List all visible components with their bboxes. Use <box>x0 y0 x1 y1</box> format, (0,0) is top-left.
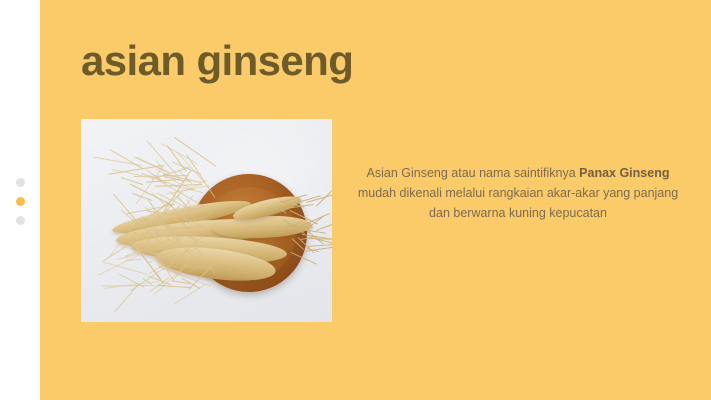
root-hair <box>153 247 182 249</box>
photo-canvas <box>81 119 332 322</box>
root-whisker <box>307 244 332 247</box>
body-text-tail: mudah dikenali melalui rangkaian akar-ak… <box>358 186 678 220</box>
root-whisker <box>315 224 332 231</box>
root-tendrils <box>86 151 222 293</box>
body-text-emphasis: Panax Ginseng <box>579 166 669 180</box>
pagination-dots[interactable] <box>0 178 40 225</box>
body-text-lead: Asian Ginseng atau nama saintifiknya <box>367 166 580 180</box>
body-paragraph: Asian Ginseng atau nama saintifiknya Pan… <box>352 163 684 223</box>
pagination-rail <box>0 0 40 400</box>
root-hair <box>199 219 212 220</box>
pagination-dot-1[interactable] <box>16 178 25 187</box>
ginseng-photo <box>81 119 332 322</box>
page-title: asian ginseng <box>81 40 353 82</box>
pagination-dot-2[interactable] <box>16 197 25 206</box>
root-hair <box>204 211 214 219</box>
pagination-dot-3[interactable] <box>16 216 25 225</box>
slide: asian ginseng Asian Ginseng atau nama sa… <box>0 0 711 400</box>
